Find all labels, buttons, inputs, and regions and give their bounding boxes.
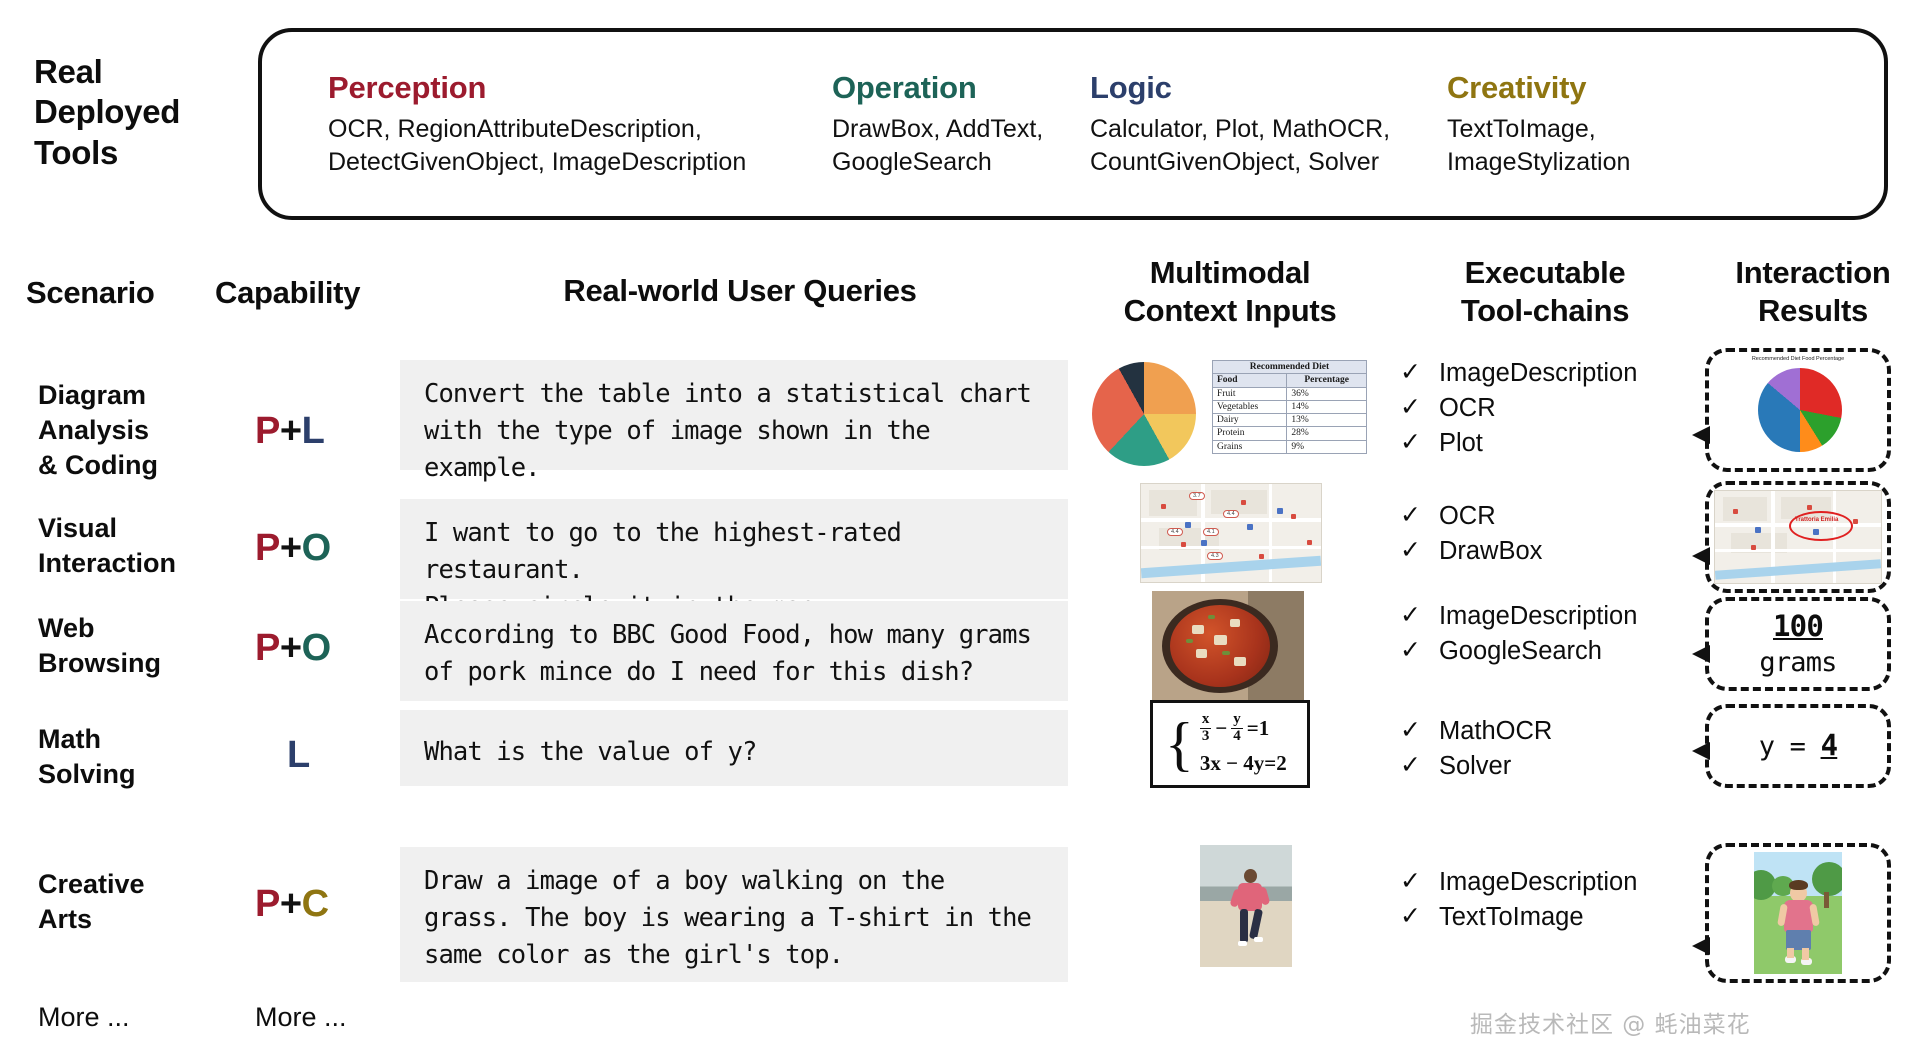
tool-group-operation-items: DrawBox, AddText, GoogleSearch (832, 113, 1132, 179)
tools-banner-section: Real Deployed Tools Perception OCR, Regi… (0, 0, 1926, 236)
bubble-tail-icon (1692, 742, 1710, 760)
check-icon: ✓ (1400, 356, 1421, 389)
tool-group-perception-title: Perception (328, 70, 858, 106)
toolchain-label: ImageDescription (1439, 599, 1637, 634)
scenario-line3: & Coding (38, 448, 218, 483)
scenario-line1: Visual (38, 511, 218, 546)
cell-food: Fruit (1213, 387, 1287, 400)
result-value: 100 (1759, 608, 1836, 646)
column-header-multimodal-line1: Multimodal (1095, 254, 1365, 292)
banner-left-title-line3: Tools (34, 133, 234, 173)
tool-group-operation-title: Operation (832, 70, 1132, 106)
result-map-thumbnail: Trattoria Emilia (1714, 490, 1882, 584)
column-header-results-line2: Results (1700, 292, 1926, 330)
row-capability-badge: P+O (255, 527, 331, 570)
row-toolchain-list: ✓ImageDescription ✓TextToImage (1400, 865, 1637, 935)
tool-group-perception: Perception OCR, RegionAttributeDescripti… (328, 70, 858, 179)
toolchain-label: GoogleSearch (1439, 634, 1602, 669)
row-query-box: Convert the table into a statistical cha… (400, 360, 1068, 470)
map-place-label: 4.4 (1167, 528, 1183, 536)
result-generated-image (1754, 852, 1842, 974)
row-scenario-diagram: Diagram Analysis & Coding (38, 378, 218, 483)
input-map-thumbnail: 3.7 4.4 4.1 4.4 4.3 (1140, 483, 1322, 583)
cell-food: Protein (1213, 427, 1287, 440)
tool-group-creativity-items: TextToImage, ImageStylization (1447, 113, 1747, 179)
toolchain-item: ✓TextToImage (1400, 900, 1637, 935)
result-bubble: Recommended Diet Food Percentage (1705, 348, 1891, 472)
input-table-row: Fruit36% (1213, 387, 1367, 400)
map-place-label: 4.4 (1223, 510, 1239, 518)
check-icon: ✓ (1400, 749, 1421, 782)
toolchain-label: OCR (1439, 499, 1496, 534)
map-place-label: 3.7 (1189, 492, 1205, 500)
toolchain-item: ✓DrawBox (1400, 534, 1542, 569)
cell-pct: 13% (1287, 414, 1367, 427)
bubble-tail-icon (1692, 547, 1710, 565)
scenario-line1: Diagram (38, 378, 218, 413)
scenario-line2: Browsing (38, 646, 218, 681)
map-place-label: 4.1 (1203, 528, 1219, 536)
capability-part-perception: P (255, 627, 280, 669)
logic-items-line1: Calculator, Plot, MathOCR, (1090, 113, 1450, 146)
toolchain-label: TextToImage (1439, 900, 1584, 935)
check-icon: ✓ (1400, 865, 1421, 898)
row-result-grams: 100 grams (1705, 597, 1891, 691)
minus-sign: − (1215, 716, 1227, 741)
row-query-box: I want to go to the highest-rated restau… (400, 499, 1068, 599)
result-bubble: Trattoria Emilia (1705, 481, 1891, 593)
creativity-items-line1: TextToImage, (1447, 113, 1747, 146)
toolchain-label: OCR (1439, 391, 1496, 426)
tool-group-creativity: Creativity TextToImage, ImageStylization (1447, 70, 1747, 179)
row-scenario-creative: Creative Arts (38, 867, 218, 937)
tool-group-logic-title: Logic (1090, 70, 1450, 106)
capability-part-plus: + (280, 527, 302, 569)
capability-part-operation: O (302, 627, 331, 669)
capability-part-perception: P (255, 527, 280, 569)
row-toolchain-list: ✓ImageDescription ✓OCR ✓Plot (1400, 356, 1637, 461)
capability-part-operation: O (302, 527, 331, 569)
input-table-head-pct: Percentage (1287, 374, 1367, 387)
brace-icon: { (1165, 720, 1194, 768)
toolchain-label: MathOCR (1439, 714, 1552, 749)
scenario-line1: Web (38, 611, 218, 646)
row-capability-badge: P+C (255, 883, 329, 926)
input-table-head-food: Food (1213, 374, 1287, 387)
table-row: Math Solving L What is the value of y? {… (0, 710, 1926, 830)
column-header-results-line1: Interaction (1700, 254, 1926, 292)
toolchain-label: DrawBox (1439, 534, 1542, 569)
tool-group-operation: Operation DrawBox, AddText, GoogleSearch (832, 70, 1132, 179)
cell-pct: 28% (1287, 427, 1367, 440)
capability-part-logic: L (287, 734, 310, 776)
result-map-highlight-label: Trattoria Emilia (1795, 517, 1838, 523)
capability-part-perception: P (255, 883, 280, 925)
row-capability-badge: P+O (255, 627, 331, 670)
check-icon: ✓ (1400, 391, 1421, 424)
row-query-box: Draw a image of a boy walking on the gra… (400, 847, 1068, 982)
query-line1: Convert the table into a statistical cha… (424, 376, 1046, 413)
result-text: 100 grams (1759, 608, 1836, 681)
row-result-map: Trattoria Emilia (1705, 481, 1891, 593)
tools-banner-box: Perception OCR, RegionAttributeDescripti… (258, 28, 1888, 220)
column-header-multimodal-line2: Context Inputs (1095, 292, 1365, 330)
table-column-headers: Scenario Capability Real-world User Quer… (0, 258, 1926, 344)
perception-items-line1: OCR, RegionAttributeDescription, (328, 113, 858, 146)
capability-part-perception: P (255, 410, 280, 452)
more-scenario-label[interactable]: More ... (38, 1002, 130, 1033)
row-input-equations: { x 3 − y 4 =1 3x − 4y=2 (1150, 700, 1310, 788)
row-result-diagram: Recommended Diet Food Percentage (1705, 348, 1891, 472)
toolchain-item: ✓MathOCR (1400, 714, 1552, 749)
toolchain-item: ✓ImageDescription (1400, 356, 1637, 391)
query-line2: grass. The boy is wearing a T-shirt in t… (424, 900, 1046, 937)
cell-pct: 9% (1287, 440, 1367, 453)
table-row: Diagram Analysis & Coding P+L Convert th… (0, 370, 1926, 490)
result-unit: grams (1759, 645, 1836, 680)
scenario-line1: Math (38, 722, 218, 757)
input-table-row: Dairy13% (1213, 414, 1367, 427)
capability-part-plus: + (280, 627, 302, 669)
result-pie-chart: Recommended Diet Food Percentage (1714, 356, 1882, 464)
row-query-box: According to BBC Good Food, how many gra… (400, 601, 1068, 701)
operation-items-line1: DrawBox, AddText, (832, 113, 1132, 146)
check-icon: ✓ (1400, 499, 1421, 532)
toolchain-label: Plot (1439, 426, 1483, 461)
more-capability-label[interactable]: More ... (255, 1002, 347, 1033)
row-result-math: y = 4 (1705, 704, 1891, 788)
result-chart-title: Recommended Diet Food Percentage (1714, 356, 1882, 362)
toolchain-item: ✓OCR (1400, 499, 1542, 534)
tool-group-logic-items: Calculator, Plot, MathOCR, CountGivenObj… (1090, 113, 1450, 179)
operation-items-line2: GoogleSearch (832, 146, 1132, 179)
column-header-results: Interaction Results (1700, 254, 1926, 330)
table-row: Web Browsing P+O According to BBC Good F… (0, 605, 1926, 725)
row-result-boy (1705, 843, 1891, 983)
result-value: 4 (1821, 728, 1838, 762)
toolchain-item: ✓Solver (1400, 749, 1552, 784)
result-bubble: y = 4 (1705, 704, 1891, 788)
row-capability-badge: P+L (255, 410, 324, 453)
row-toolchain-list: ✓ImageDescription ✓GoogleSearch (1400, 599, 1637, 669)
capability-part-creativity: C (302, 883, 329, 925)
input-pie-chart (1092, 362, 1196, 466)
query-line2: with the type of image shown in the exam… (424, 413, 1046, 487)
fraction-x-over-3: x 3 (1200, 712, 1212, 745)
result-pie-circle (1758, 368, 1842, 452)
input-equation-box: { x 3 − y 4 =1 3x − 4y=2 (1150, 700, 1310, 788)
banner-left-title-line1: Real (34, 52, 234, 92)
banner-left-title-line2: Deployed (34, 92, 234, 132)
input-dish-photo (1152, 591, 1304, 701)
column-header-multimodal: Multimodal Context Inputs (1095, 254, 1365, 330)
query-line1: What is the value of y? (424, 734, 1046, 771)
check-icon: ✓ (1400, 634, 1421, 667)
cell-food: Dairy (1213, 414, 1287, 427)
row-capability-badge: L (287, 734, 310, 777)
fraction-y-over-4: y 4 (1231, 712, 1243, 745)
check-icon: ✓ (1400, 426, 1421, 459)
query-line1: According to BBC Good Food, how many gra… (424, 617, 1046, 654)
toolchain-item: ✓Plot (1400, 426, 1637, 461)
column-header-queries: Real-world User Queries (400, 272, 1080, 310)
result-bubble (1705, 843, 1891, 983)
query-line3: same color as the girl's top. (424, 937, 1046, 974)
row-query-box: What is the value of y? (400, 710, 1068, 786)
bubble-tail-icon (1692, 937, 1710, 955)
equation-rhs: =1 (1247, 716, 1269, 741)
input-table-row: Grains9% (1213, 440, 1367, 453)
toolchain-label: ImageDescription (1439, 865, 1637, 900)
scenario-line2: Analysis (38, 413, 218, 448)
column-header-toolchains: Executable Tool-chains (1400, 254, 1690, 330)
input-beach-photo (1200, 845, 1292, 967)
equation-line2: 3x − 4y=2 (1200, 751, 1287, 776)
table-row: Creative Arts P+C Draw a image of a boy … (0, 855, 1926, 1005)
toolchain-item: ✓GoogleSearch (1400, 634, 1637, 669)
cell-food: Grains (1213, 440, 1287, 453)
scenario-line2: Interaction (38, 546, 218, 581)
tool-group-creativity-title: Creativity (1447, 70, 1747, 106)
row-scenario-visual: Visual Interaction (38, 511, 218, 581)
input-table-row: Vegetables14% (1213, 400, 1367, 413)
column-header-capability: Capability (215, 274, 415, 312)
bubble-tail-icon (1692, 645, 1710, 663)
tool-group-perception-items: OCR, RegionAttributeDescription, DetectG… (328, 113, 858, 179)
input-diet-table: Recommended Diet Food Percentage Fruit36… (1212, 360, 1367, 454)
capability-part-plus: + (280, 883, 302, 925)
banner-left-title: Real Deployed Tools (34, 52, 234, 173)
check-icon: ✓ (1400, 900, 1421, 933)
column-header-toolchains-line2: Tool-chains (1400, 292, 1690, 330)
scenario-line2: Solving (38, 757, 218, 792)
result-text: y = 4 (1759, 727, 1838, 765)
input-table-row: Protein28% (1213, 427, 1367, 440)
scenario-line1: Creative (38, 867, 218, 902)
input-table-title: Recommended Diet (1213, 361, 1367, 374)
row-toolchain-list: ✓MathOCR ✓Solver (1400, 714, 1552, 784)
capability-part-plus: + (280, 410, 302, 452)
toolchain-label: ImageDescription (1439, 356, 1637, 391)
cell-pct: 36% (1287, 387, 1367, 400)
cell-food: Vegetables (1213, 400, 1287, 413)
watermark: 掘金技术社区 @ 蚝油菜花 (1470, 1005, 1751, 1039)
row-input-diagram: Recommended Diet Food Percentage Fruit36… (1092, 356, 1372, 476)
map-place-label: 4.3 (1207, 552, 1223, 560)
bubble-tail-icon (1692, 426, 1710, 444)
row-scenario-web: Web Browsing (38, 611, 218, 681)
row-toolchain-list: ✓OCR ✓DrawBox (1400, 499, 1542, 569)
query-line1: Draw a image of a boy walking on the (424, 863, 1046, 900)
toolchain-item: ✓ImageDescription (1400, 599, 1637, 634)
column-header-scenario: Scenario (26, 274, 186, 312)
perception-items-line2: DetectGivenObject, ImageDescription (328, 146, 858, 179)
result-bubble: 100 grams (1705, 597, 1891, 691)
column-header-toolchains-line1: Executable (1400, 254, 1690, 292)
capability-part-logic: L (302, 410, 325, 452)
row-input-beach (1200, 845, 1292, 967)
row-input-map: 3.7 4.4 4.1 4.4 4.3 (1140, 483, 1322, 583)
result-prefix: y = (1759, 731, 1821, 762)
query-line1: I want to go to the highest-rated restau… (424, 515, 1046, 589)
equation-line1: x 3 − y 4 =1 (1200, 712, 1287, 745)
query-line2: of pork mince do I need for this dish? (424, 654, 1046, 691)
check-icon: ✓ (1400, 714, 1421, 747)
toolchain-item: ✓ImageDescription (1400, 865, 1637, 900)
row-scenario-math: Math Solving (38, 722, 218, 792)
cell-pct: 14% (1287, 400, 1367, 413)
logic-items-line2: CountGivenObject, Solver (1090, 146, 1450, 179)
creativity-items-line2: ImageStylization (1447, 146, 1747, 179)
toolchain-label: Solver (1439, 749, 1511, 784)
scenario-line2: Arts (38, 902, 218, 937)
check-icon: ✓ (1400, 534, 1421, 567)
check-icon: ✓ (1400, 599, 1421, 632)
tool-group-logic: Logic Calculator, Plot, MathOCR, CountGi… (1090, 70, 1450, 179)
equation-lines: x 3 − y 4 =1 3x − 4y=2 (1200, 712, 1287, 776)
toolchain-item: ✓OCR (1400, 391, 1637, 426)
row-input-dish (1152, 591, 1304, 701)
